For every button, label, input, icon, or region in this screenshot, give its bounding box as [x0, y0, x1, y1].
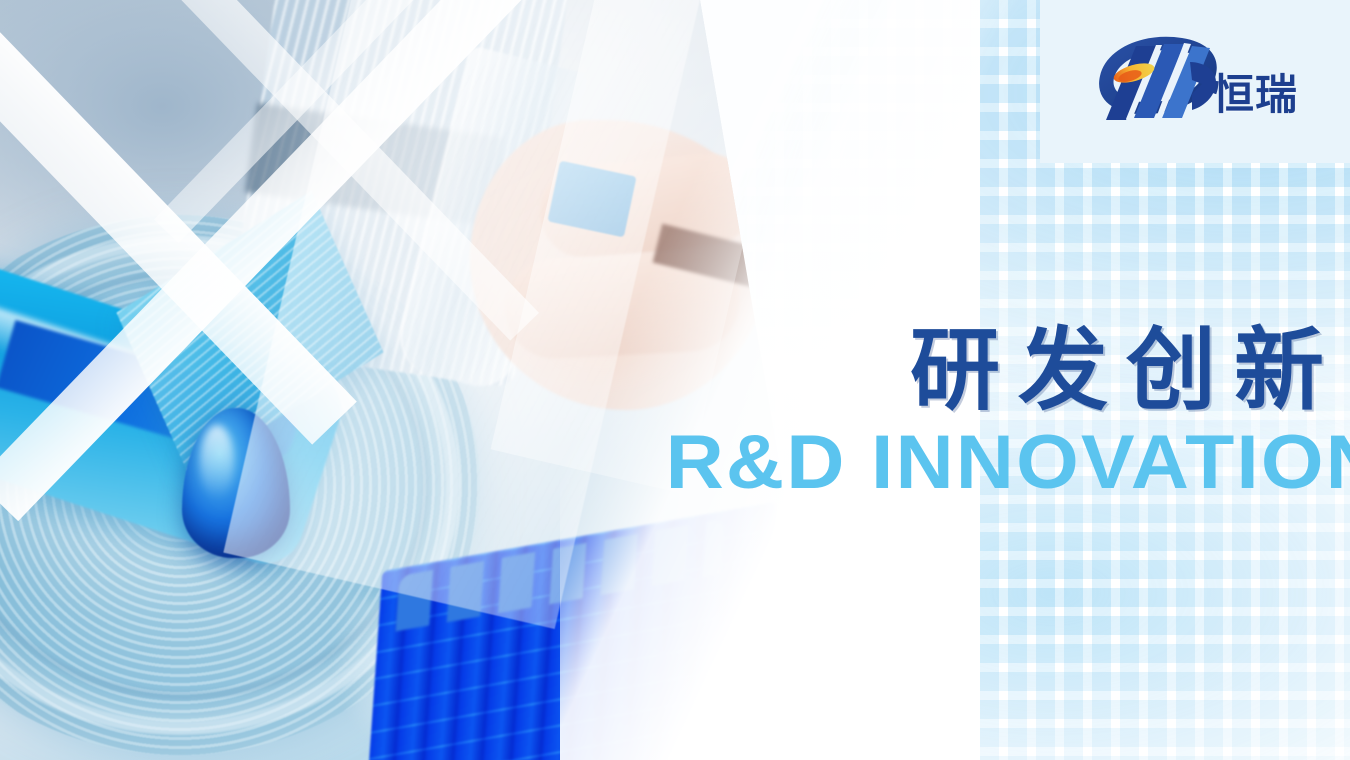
blue-droplet-highlight — [200, 425, 234, 499]
hengrui-logo-box: 恒瑞 — [1040, 0, 1350, 163]
headline-block: 研发创新 R&D INNOVATION — [704, 322, 1344, 501]
hengrui-swoosh-mark-icon — [1092, 28, 1222, 136]
rd-innovation-banner: 恒瑞 研发创新 R&D INNOVATION — [0, 0, 1350, 760]
hengrui-company-name: 恒瑞 — [1212, 74, 1298, 116]
headline-chinese: 研发创新 — [704, 322, 1344, 419]
headline-english: R&D INNOVATION — [666, 425, 1344, 501]
